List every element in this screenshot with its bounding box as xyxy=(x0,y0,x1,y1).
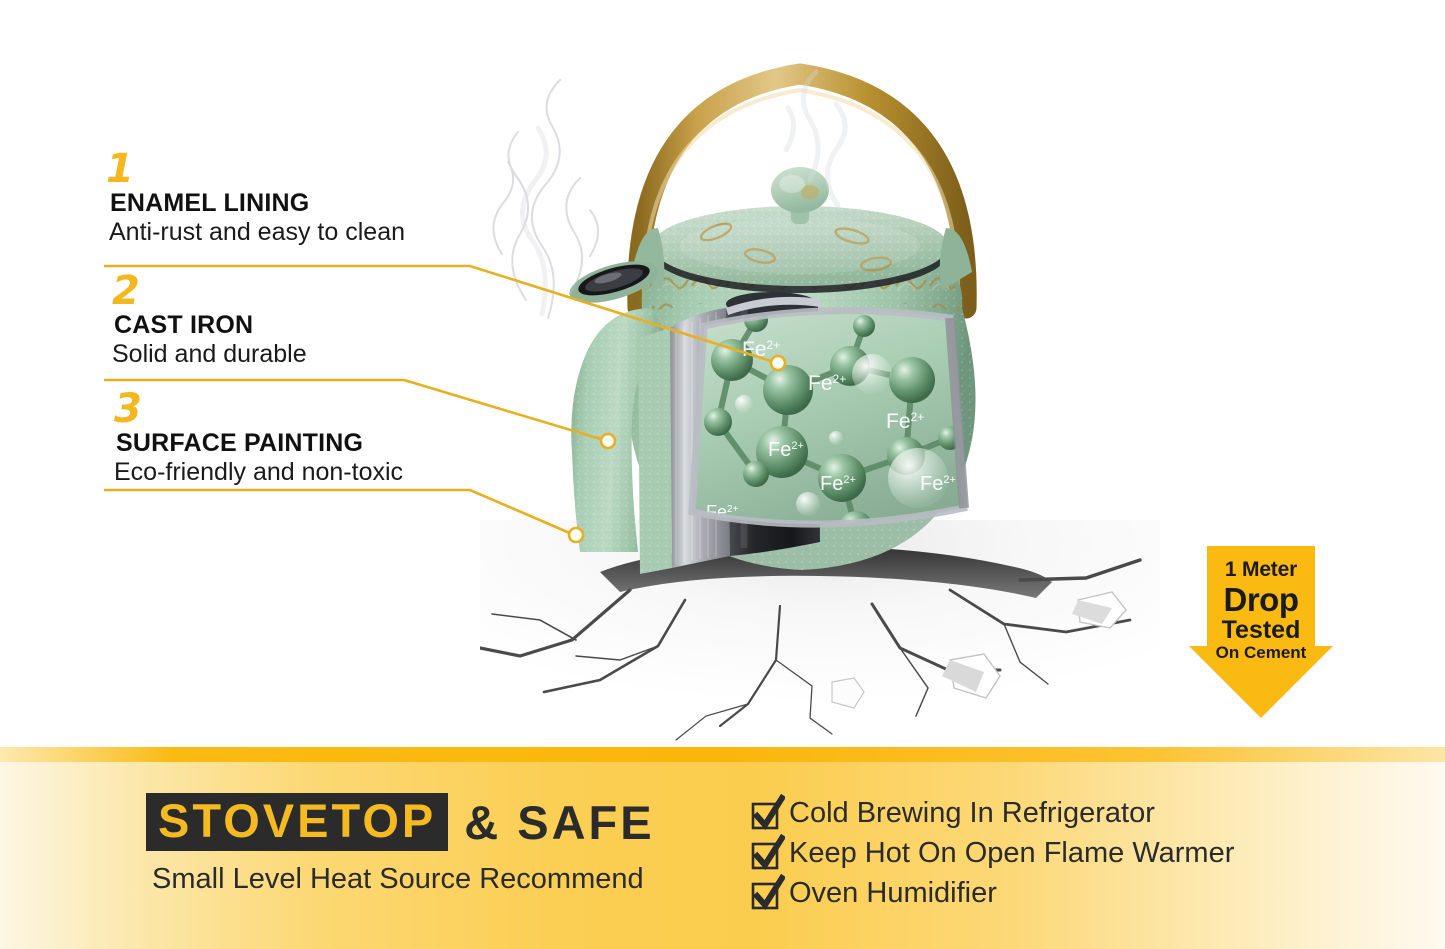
feature-callout-3: 3 SURFACE PAINTING Eco-friendly and non-… xyxy=(106,390,403,486)
feature-subtitle-3: Eco-friendly and non-toxic xyxy=(114,458,403,486)
feature-number-1: 1 xyxy=(106,150,405,188)
banner-checklist: Cold Brewing In Refrigerator Keep Hot On… xyxy=(752,795,1234,915)
checklist-item: Cold Brewing In Refrigerator xyxy=(752,795,1234,832)
stovetop-boxed-label: STOVETOP xyxy=(146,793,448,851)
checklist-item: Keep Hot On Open Flame Warmer xyxy=(752,835,1234,872)
drop-badge-line2: Drop xyxy=(1189,583,1333,616)
checklist-label: Cold Brewing In Refrigerator xyxy=(789,799,1155,828)
checkbox-checked-icon xyxy=(752,800,779,827)
banner-subheadline: Small Level Heat Source Recommend xyxy=(152,863,726,896)
feature-subtitle-1: Anti-rust and easy to clean xyxy=(109,218,405,246)
drop-test-badge: 1 Meter Drop Tested On Cement xyxy=(1189,546,1333,718)
hero-section: Fe2+ Fe2+ Fe2+ Fe2+ Fe2+ Fe2+ Fe2+ xyxy=(0,0,1445,747)
feature-callout-2: 2 CAST IRON Solid and durable xyxy=(106,272,307,368)
checklist-label: Oven Humidifier xyxy=(789,879,997,908)
drop-badge-line1: 1 Meter xyxy=(1189,558,1333,582)
checklist-label: Keep Hot On Open Flame Warmer xyxy=(789,839,1234,868)
feature-subtitle-2: Solid and durable xyxy=(112,340,307,368)
feature-title-1: ENAMEL LINING xyxy=(110,189,405,218)
drop-badge-line4: On Cement xyxy=(1189,644,1333,663)
checklist-item: Oven Humidifier xyxy=(752,875,1234,912)
feature-callout-1: 1 ENAMEL LINING Anti-rust and easy to cl… xyxy=(106,150,405,246)
banner-top-strip xyxy=(0,747,1445,762)
checkbox-checked-icon xyxy=(752,840,779,867)
feature-number-2: 2 xyxy=(112,272,307,310)
safe-label: & SAFE xyxy=(464,799,654,846)
banner-headline-group: STOVETOP & SAFE Small Level Heat Source … xyxy=(146,793,726,896)
feature-title-3: SURFACE PAINTING xyxy=(116,429,403,458)
stovetop-headline-row: STOVETOP & SAFE xyxy=(146,793,726,851)
feature-number-3: 3 xyxy=(114,390,403,428)
infographic-root: Fe2+ Fe2+ Fe2+ Fe2+ Fe2+ Fe2+ Fe2+ xyxy=(0,0,1445,949)
steam-wisps xyxy=(430,30,950,330)
drop-badge-line3: Tested xyxy=(1189,617,1333,643)
feature-title-2: CAST IRON xyxy=(114,311,307,340)
bottom-banner: STOVETOP & SAFE Small Level Heat Source … xyxy=(0,747,1445,949)
checkbox-checked-icon xyxy=(752,880,779,907)
